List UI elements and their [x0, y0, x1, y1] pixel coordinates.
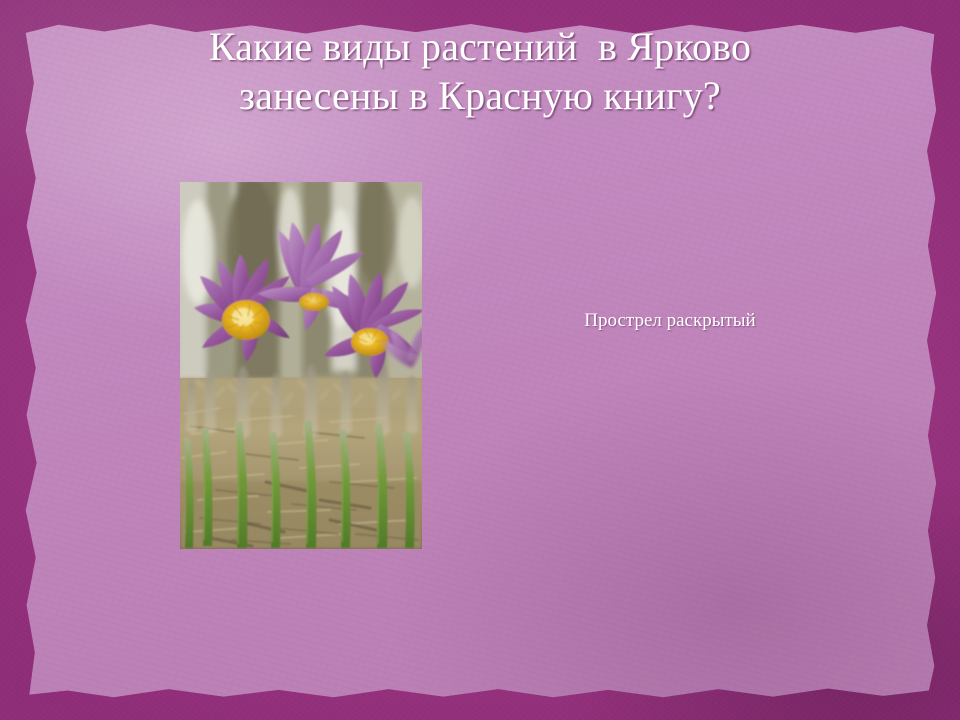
- slide-paper-panel: [22, 22, 938, 700]
- photo-caption: Прострел раскрытый: [470, 309, 870, 333]
- pasque-flower-photo: [180, 182, 422, 549]
- title-line-1: Какие виды растений в Ярково: [60, 22, 900, 71]
- title-line-2: занесены в Красную книгу?: [60, 71, 900, 120]
- presentation-slide: Какие виды растений в Ярково занесены в …: [0, 0, 960, 720]
- page-title: Какие виды растений в Ярково занесены в …: [60, 22, 900, 120]
